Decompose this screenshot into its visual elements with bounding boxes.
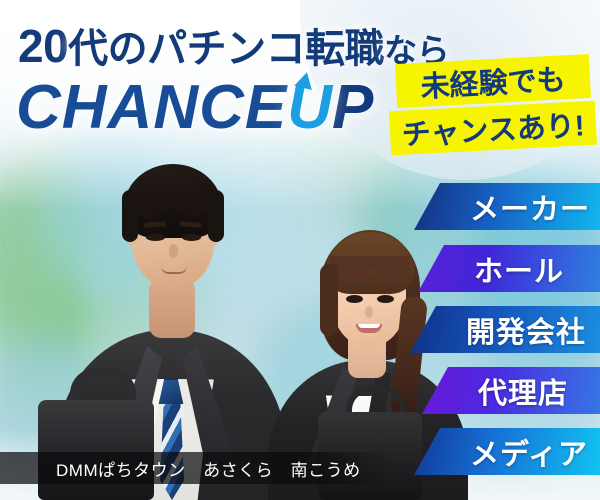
logo-up-p-letter: P — [332, 73, 374, 142]
headline-main-text: 代のパチンコ転職 — [68, 27, 384, 71]
category-label-developer: 開発会社 — [466, 309, 586, 351]
chance-up-logo: CHANCEUP — [16, 72, 374, 143]
caption-bar: DMMぱちタウン あさくら 南こうめ — [0, 452, 392, 484]
male-nose — [169, 244, 178, 258]
male-eye-left — [146, 234, 165, 241]
advertisement-banner[interactable]: 20代のパチンコ転職なら CHANCEUP 未経験でも チャンスあり! メーカー… — [0, 0, 600, 500]
category-label-hall: ホール — [474, 248, 564, 290]
female-eye-right — [377, 295, 394, 303]
category-label-maker: メーカー — [470, 186, 590, 228]
briefcase-left — [38, 400, 154, 500]
category-button-hall[interactable]: ホール — [418, 245, 600, 292]
category-label-media: メディア — [470, 431, 588, 473]
category-button-media[interactable]: メディア — [414, 428, 600, 475]
logo-chance-text: CHANCE — [16, 73, 287, 142]
male-hair-side-right — [208, 190, 224, 242]
male-eye-right — [182, 234, 201, 241]
category-button-developer[interactable]: 開発会社 — [410, 306, 600, 353]
category-button-maker[interactable]: メーカー — [414, 183, 600, 230]
male-hair-side-left — [122, 190, 138, 242]
female-nose — [365, 306, 373, 318]
badge-line-1-text: 未経験でも — [419, 56, 566, 106]
category-label-agency: 代理店 — [478, 370, 568, 412]
female-eye-left — [346, 295, 363, 303]
caption-text: DMMぱちタウン あさくら 南こうめ — [56, 456, 361, 481]
female-hair-side — [320, 264, 338, 336]
headline-number: 20 — [18, 20, 68, 72]
category-button-agency[interactable]: 代理店 — [422, 367, 600, 414]
male-mouth — [161, 266, 187, 274]
headline-line-1: 20代のパチンコ転職なら — [18, 16, 449, 74]
female-teeth — [358, 324, 380, 328]
badge-line-2-text: チャンスあり! — [401, 102, 586, 154]
